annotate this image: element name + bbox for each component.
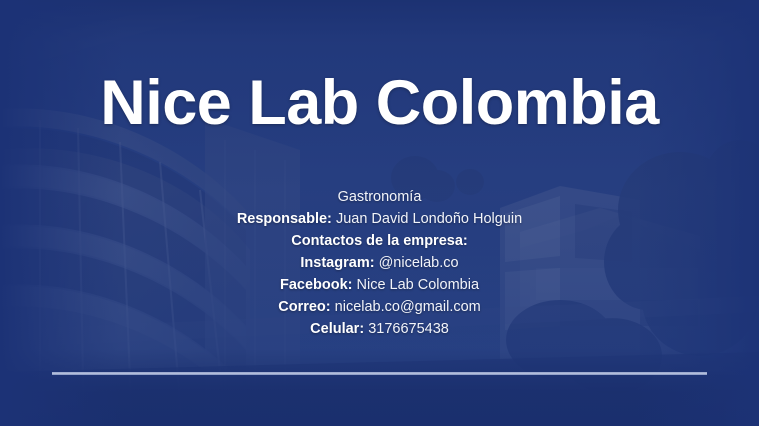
details-block: Gastronomía Responsable: Juan David Lond… [0, 186, 759, 340]
contact-line-celular: Celular: 3176675438 [0, 318, 759, 340]
celular-label: Celular: [310, 321, 364, 337]
category-text: Gastronomía [338, 189, 422, 205]
contacts-heading: Contactos de la empresa: [0, 230, 759, 252]
correo-value: nicelab.co@gmail.com [335, 299, 481, 315]
instagram-label: Instagram: [300, 255, 374, 271]
celular-value: 3176675438 [368, 321, 449, 337]
category-line: Gastronomía [0, 186, 759, 208]
correo-label: Correo: [278, 299, 330, 315]
horizontal-divider [52, 372, 707, 375]
instagram-value: @nicelab.co [379, 255, 459, 271]
responsable-value: Juan David Londoño Holguin [336, 211, 522, 227]
contacts-heading-text: Contactos de la empresa: [291, 233, 467, 249]
facebook-value: Nice Lab Colombia [357, 277, 480, 293]
slide-content: Nice Lab Colombia Gastronomía Responsabl… [0, 0, 759, 426]
contact-line-instagram: Instagram: @nicelab.co [0, 252, 759, 274]
facebook-label: Facebook: [280, 277, 353, 293]
responsable-line: Responsable: Juan David Londoño Holguin [0, 208, 759, 230]
page-title: Nice Lab Colombia [0, 70, 759, 136]
responsable-label: Responsable: [237, 211, 332, 227]
presentation-slide: Nice Lab Colombia Gastronomía Responsabl… [0, 0, 759, 426]
contact-line-correo: Correo: nicelab.co@gmail.com [0, 296, 759, 318]
contact-line-facebook: Facebook: Nice Lab Colombia [0, 274, 759, 296]
